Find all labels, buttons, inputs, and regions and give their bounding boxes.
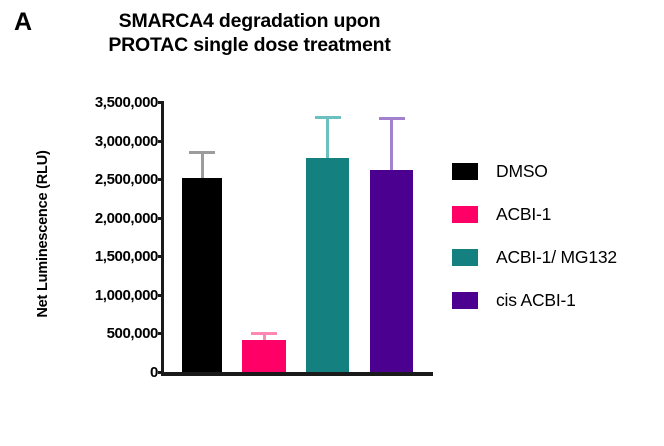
y-tick-mark: [158, 140, 164, 143]
y-tick-label: 3,500,000: [46, 95, 158, 110]
y-tick-mark: [158, 371, 164, 374]
y-tick-label: 3,000,000: [46, 134, 158, 149]
y-tick-label: 1,000,000: [46, 288, 158, 303]
legend-item[interactable]: cis ACBI-1: [452, 279, 617, 322]
legend-swatch-icon: [452, 292, 478, 309]
legend-item[interactable]: ACBI-1/ MG132: [452, 236, 617, 279]
error-bar-cap: [315, 116, 341, 119]
error-bar-stem: [326, 116, 329, 158]
error-bar-stem: [201, 151, 204, 178]
y-tick-label: 0: [46, 365, 158, 380]
error-bar-stem: [390, 117, 393, 170]
legend-label: DMSO: [496, 161, 548, 182]
y-tick-label: 2,000,000: [46, 211, 158, 226]
y-tick-mark: [158, 217, 164, 220]
y-tick-label: 2,500,000: [46, 172, 158, 187]
error-bar-cap: [251, 332, 277, 335]
y-tick-mark: [158, 255, 164, 258]
legend-label: ACBI-1: [496, 204, 551, 225]
y-tick-label: 1,500,000: [46, 249, 158, 264]
legend-item[interactable]: DMSO: [452, 150, 617, 193]
y-tick-mark: [158, 101, 164, 104]
bar-dmso: [182, 178, 222, 372]
legend-swatch-icon: [452, 163, 478, 180]
error-bar-cap: [189, 151, 215, 154]
bar-acbi-1: [242, 340, 286, 372]
y-tick-mark: [158, 178, 164, 181]
figure-panel: A SMARCA4 degradation upon PROTAC single…: [0, 0, 664, 446]
bar-acbi-1-mg132: [306, 158, 349, 372]
legend-swatch-icon: [452, 249, 478, 266]
x-axis-line: [161, 372, 433, 376]
legend: DMSOACBI-1ACBI-1/ MG132cis ACBI-1: [452, 150, 617, 322]
legend-swatch-icon: [452, 206, 478, 223]
y-tick-mark: [158, 332, 164, 335]
error-bar-cap: [379, 117, 405, 120]
y-tick-label: 500,000: [46, 326, 158, 341]
legend-label: cis ACBI-1: [496, 290, 576, 311]
bar-cis-acbi-1: [370, 170, 413, 372]
y-tick-mark: [158, 294, 164, 297]
legend-label: ACBI-1/ MG132: [496, 247, 617, 268]
legend-item[interactable]: ACBI-1: [452, 193, 617, 236]
